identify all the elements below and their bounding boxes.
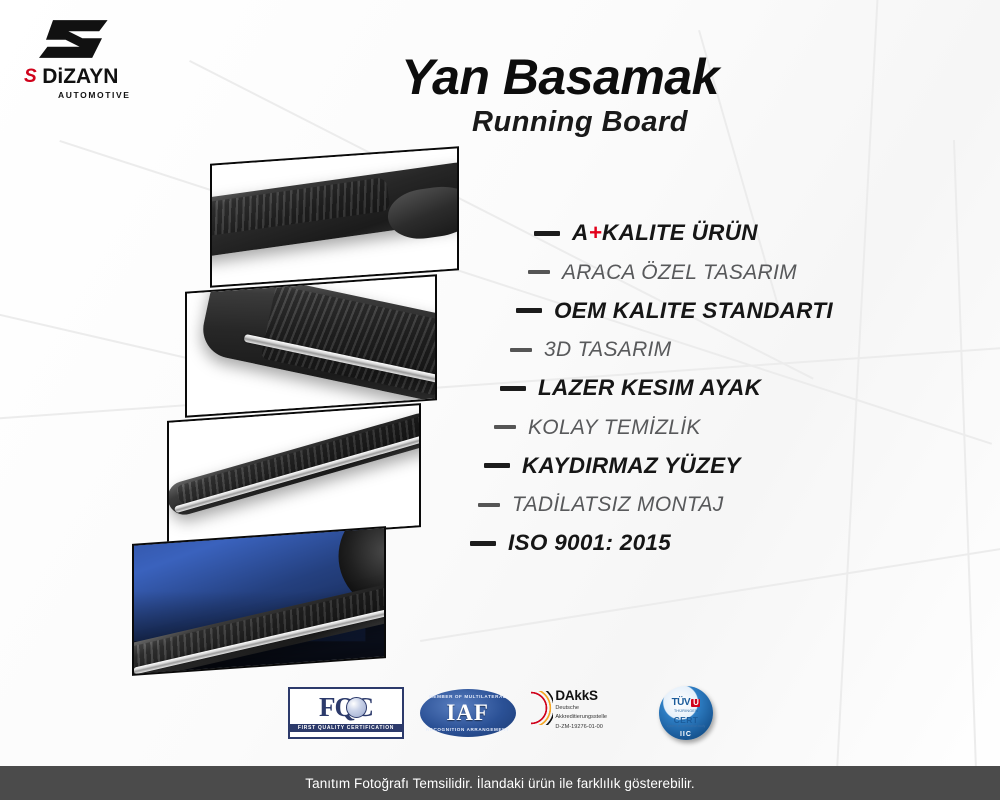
tuv-certification-badge: TÜV U THÜRINGEN CERT system of certifica… — [659, 686, 713, 740]
brand-wordmark: S DiZAYN — [24, 66, 172, 87]
running-board-full-length-photo — [167, 403, 421, 545]
photo-canvas — [132, 529, 386, 672]
feature-item: KAYDIRMAZ YÜZEY — [484, 455, 940, 478]
photo-inner — [167, 407, 421, 541]
fqc-caption: FIRST QUALITY CERTIFICATION — [290, 724, 402, 732]
feature-item: TADİLATSIZ MONTAJ — [478, 494, 940, 515]
tuv-mark-box: U — [691, 699, 700, 707]
feature-item: ISO 9001: 2015 — [470, 532, 940, 555]
brand-name: DiZAYN — [42, 66, 118, 87]
s-dizayn-logo-mark — [32, 14, 116, 64]
board-shape — [198, 274, 437, 417]
feature-label: KOLAY TEMİZLİK — [528, 417, 701, 438]
feature-item: OEM KALITE STANDARTI — [516, 300, 940, 323]
product-advertisement-page: S DiZAYN AUTOMOTIVE Yan Basamak Running … — [0, 0, 1000, 800]
dakks-text-block: DAkkS Deutsche Akkreditierungsstelle D-Z… — [555, 689, 607, 731]
photo-inner — [210, 150, 459, 284]
feature-item: ARACA ÖZEL TASARIM — [528, 262, 940, 283]
photo-inner — [132, 529, 386, 672]
bullet-dash-icon — [494, 425, 516, 429]
feature-label: OEM KALITE STANDARTI — [554, 300, 833, 323]
bullet-dash-icon — [528, 270, 550, 274]
photo-canvas — [210, 150, 459, 284]
feature-label: ISO 9001: 2015 — [508, 532, 671, 555]
feature-label: 3D TASARIM — [544, 339, 671, 360]
photo-canvas — [185, 278, 437, 415]
footer-disclaimer-text: Tanıtım Fotoğrafı Temsilidir. İlandaki ü… — [305, 776, 695, 791]
brand-accent-letter: S — [24, 67, 37, 86]
footer-disclaimer-bar: Tanıtım Fotoğrafı Temsilidir. İlandaki ü… — [0, 766, 1000, 800]
feature-list: A+KALITE ÜRÜN ARACA ÖZEL TASARIM OEM KAL… — [470, 222, 940, 555]
iaf-bottom-text: RECOGNITION ARRANGEMENT — [420, 727, 516, 732]
brand-logo: S DiZAYN AUTOMOTIVE — [22, 14, 172, 100]
iaf-top-text: MEMBER OF MULTILATERAL — [420, 694, 516, 699]
feature-label: ARACA ÖZEL TASARIM — [562, 262, 797, 283]
tuv-tiny-text: system of certification body — [667, 725, 705, 729]
feature-item: LAZER KESIM AYAK — [500, 377, 940, 400]
bullet-dash-icon — [478, 503, 500, 507]
bullet-dash-icon — [470, 541, 496, 546]
feature-label: LAZER KESIM AYAK — [538, 377, 761, 400]
running-board-end-cap-photo — [210, 146, 459, 287]
bullet-dash-icon — [534, 231, 560, 236]
page-title: Yan Basamak — [300, 52, 820, 102]
dakks-line-2: Akkreditierungsstelle — [555, 714, 607, 722]
dakks-line-3: D-ZM-19276-01-00 — [555, 724, 607, 732]
bg-diagonal-7 — [420, 543, 1000, 642]
dakks-acronym: DAkkS — [555, 689, 607, 703]
running-board-tread-photo — [185, 274, 437, 418]
dakks-wave-icon — [531, 691, 553, 725]
bullet-dash-icon — [484, 463, 510, 468]
board-tread — [175, 415, 421, 504]
fqc-acronym: FQC — [319, 694, 373, 721]
photo-canvas — [167, 407, 421, 541]
bullet-dash-icon — [510, 348, 532, 352]
tuv-mark: TÜV U — [672, 698, 701, 708]
bullet-dash-icon — [500, 386, 526, 391]
feature-item: 3D TASARIM — [510, 339, 940, 360]
page-subtitle: Running Board — [300, 108, 860, 137]
feature-item: KOLAY TEMİZLİK — [494, 417, 940, 438]
bg-diagonal-4 — [953, 140, 979, 800]
board-tread — [210, 177, 391, 241]
dakks-line-1: Deutsche — [555, 705, 607, 713]
feature-item: A+KALITE ÜRÜN — [534, 222, 940, 245]
bullet-dash-icon — [516, 308, 542, 313]
dakks-certification-badge: DAkkS Deutsche Akkreditierungsstelle D-Z… — [531, 689, 643, 737]
globe-icon — [346, 697, 367, 718]
photo-inner — [185, 278, 437, 415]
feature-label: TADİLATSIZ MONTAJ — [512, 494, 724, 515]
certification-badge-row: FQC FIRST QUALITY CERTIFICATION MEMBER O… — [288, 683, 713, 743]
feature-label: KAYDIRMAZ YÜZEY — [522, 455, 741, 478]
tuv-region: THÜRINGEN — [674, 709, 698, 713]
running-board-installed-on-vehicle-photo — [132, 526, 386, 676]
feature-label: A+KALITE ÜRÜN — [572, 222, 758, 245]
brand-tagline: AUTOMOTIVE — [58, 90, 172, 100]
fqc-certification-badge: FQC FIRST QUALITY CERTIFICATION — [288, 687, 404, 739]
iaf-acronym: IAF — [446, 700, 489, 726]
tuv-bottom-text: IIC — [659, 731, 713, 738]
iaf-certification-badge: MEMBER OF MULTILATERAL IAF RECOGNITION A… — [420, 689, 516, 737]
